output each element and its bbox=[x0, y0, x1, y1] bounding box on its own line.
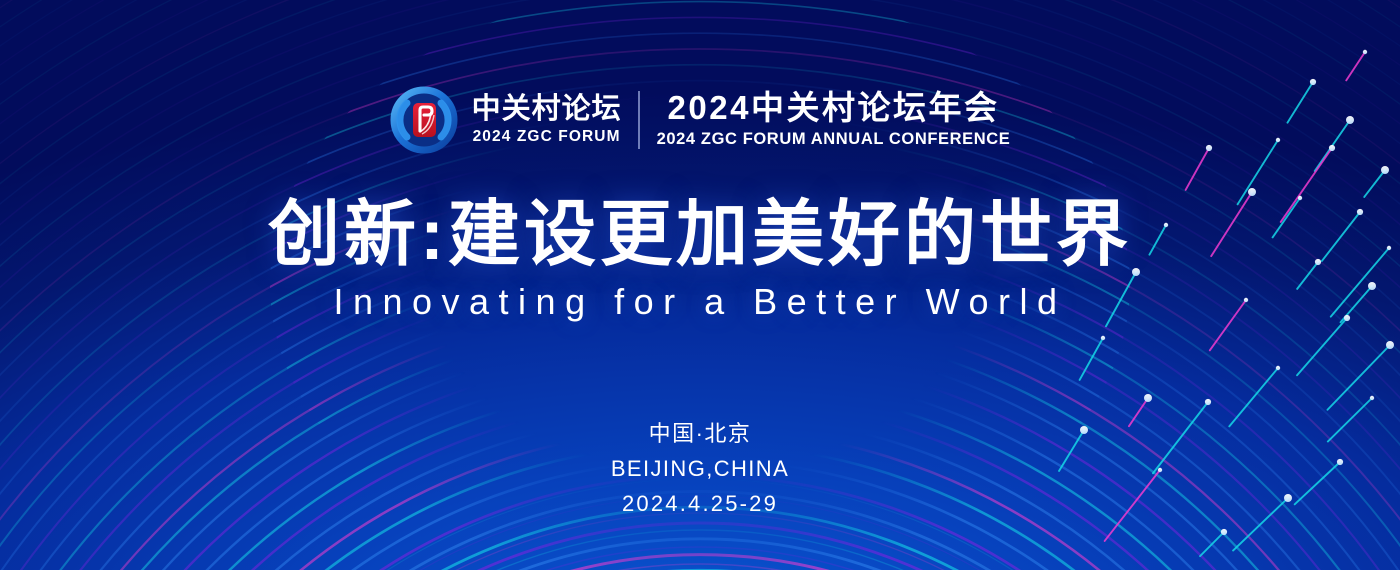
zgc-forum-emblem-icon bbox=[390, 86, 458, 154]
conference-title-block: 2024中关村论坛年会 2024 ZGC FORUM ANNUAL CONFER… bbox=[657, 91, 1011, 150]
conference-title-en: 2024 ZGC FORUM ANNUAL CONFERENCE bbox=[657, 130, 1011, 149]
venue-location-cn: 中国·北京 bbox=[0, 418, 1400, 450]
zgc-forum-banner: 中关村论坛 2024 ZGC FORUM 2024中关村论坛年会 2024 ZG… bbox=[0, 0, 1400, 570]
venue-dates: 2024.4.25-29 bbox=[0, 487, 1400, 520]
header-divider bbox=[638, 91, 640, 149]
hero-theme-cn: 创新:建设更加美好的世界 bbox=[0, 196, 1400, 275]
brand-text-block: 中关村论坛 2024 ZGC FORUM bbox=[472, 94, 622, 145]
hero-theme-en: Innovating for a Better World bbox=[0, 281, 1400, 323]
brand-name-en: 2024 ZGC FORUM bbox=[473, 128, 621, 146]
conference-title-cn: 2024中关村论坛年会 bbox=[668, 91, 1000, 126]
hero-theme: 创新:建设更加美好的世界 Innovating for a Better Wor… bbox=[0, 196, 1400, 323]
brand-name-cn: 中关村论坛 bbox=[472, 94, 622, 124]
header-lockup: 中关村论坛 2024 ZGC FORUM 2024中关村论坛年会 2024 ZG… bbox=[0, 86, 1400, 154]
venue-block: 中国·北京 BEIJING,CHINA 2024.4.25-29 bbox=[0, 418, 1400, 520]
venue-location-en: BEIJING,CHINA bbox=[0, 452, 1400, 485]
